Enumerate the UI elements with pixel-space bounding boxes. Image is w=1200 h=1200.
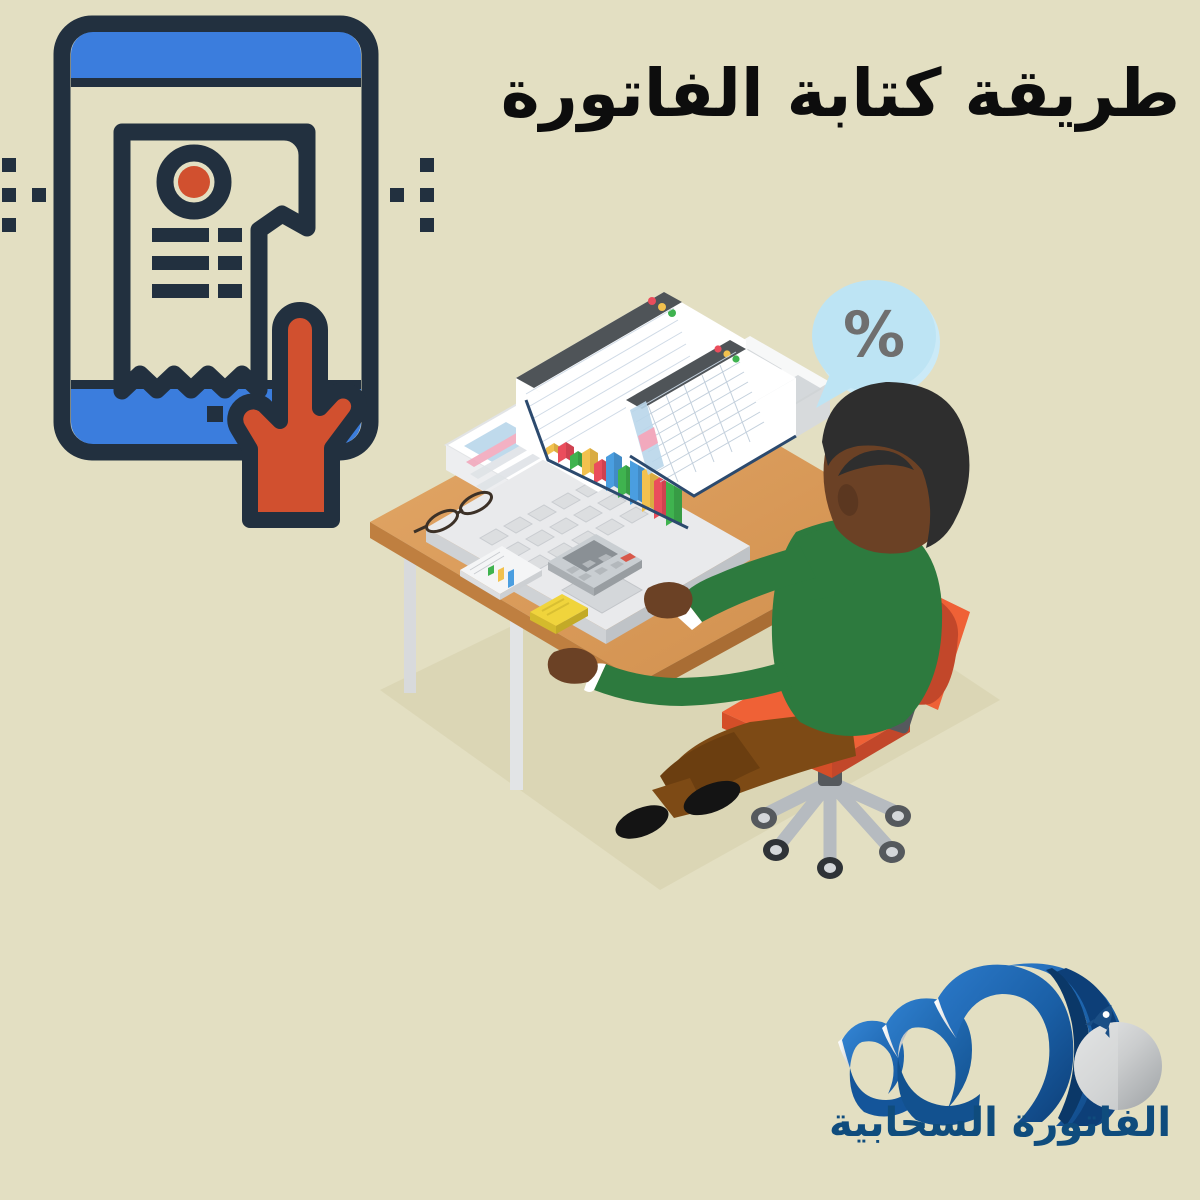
- person-head: [822, 382, 969, 554]
- illustration-svg: %: [330, 270, 1030, 910]
- cloud-invoice-logo[interactable]: الفاتورة السحابية: [820, 950, 1180, 1180]
- logo-text: الفاتورة السحابية: [820, 1100, 1180, 1146]
- page-title: طريقة كتابة الفاتورة: [420, 56, 1180, 132]
- percent-symbol: %: [843, 298, 905, 371]
- decor-squares-left-icon: [2, 158, 46, 232]
- decor-squares-right-icon: [390, 158, 434, 232]
- poster-canvas: طريقة كتابة الفاتورة: [0, 0, 1200, 1200]
- isometric-accountant-illustration: %: [330, 270, 1030, 910]
